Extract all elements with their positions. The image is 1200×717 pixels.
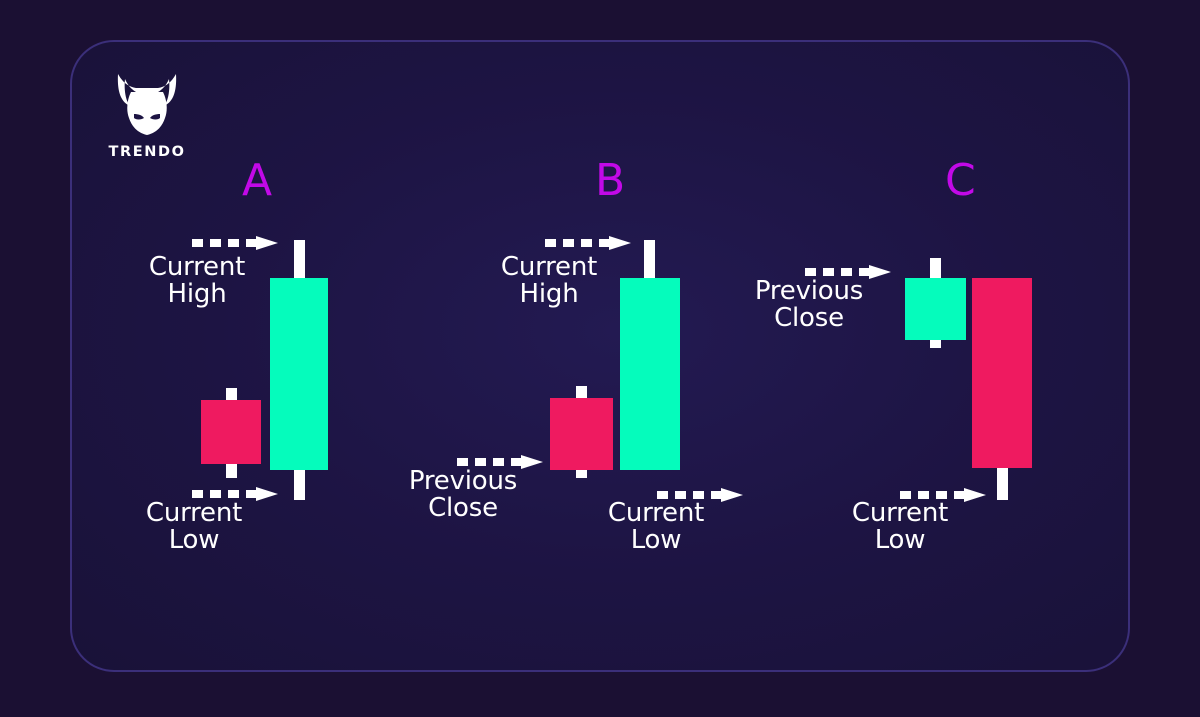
group-b-previous-close-label: Previous Close — [382, 468, 544, 523]
group-a-previous-candle-body — [201, 400, 261, 464]
group-c-previous-close-label: Previous Close — [728, 278, 890, 333]
group-a-current-high-label: Current High — [118, 254, 276, 309]
group-b-current-high-label: Current High — [470, 254, 628, 309]
group-a-current-low-label: Current Low — [115, 500, 273, 555]
group-letter-a: A — [242, 159, 272, 203]
group-a-current-high-arrow — [190, 236, 290, 250]
bull-head-icon — [111, 70, 183, 142]
illustration-canvas: TRENDO A B C Current High Current Low Cu… — [0, 0, 1200, 717]
group-b-previous-candle-body — [550, 398, 613, 470]
content-panel — [70, 40, 1130, 672]
group-b-current-low-label: Current Low — [578, 500, 734, 555]
group-b-current-candle-body — [620, 278, 680, 470]
brand-logo: TRENDO — [104, 70, 190, 160]
group-letter-b: B — [595, 159, 625, 203]
group-c-current-low-label: Current Low — [822, 500, 978, 555]
group-c-previous-candle-body — [905, 278, 966, 340]
brand-wordmark: TRENDO — [104, 144, 190, 160]
group-letter-c: C — [945, 159, 976, 203]
group-a-current-candle-body — [270, 278, 328, 470]
group-b-current-high-arrow — [543, 236, 643, 250]
group-c-current-candle-body — [972, 278, 1032, 468]
